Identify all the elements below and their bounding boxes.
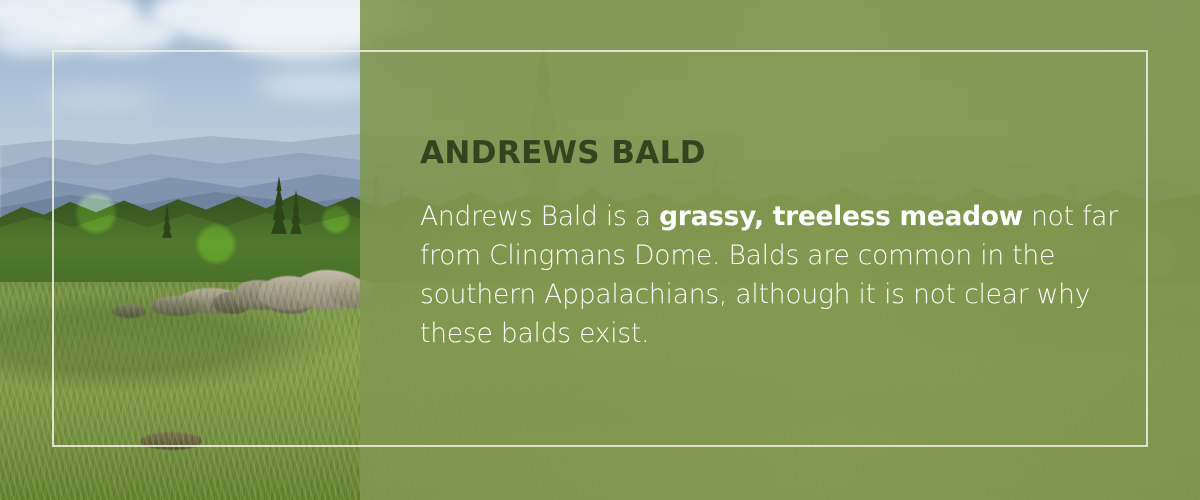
description-highlight: grassy, treeless meadow	[659, 201, 1023, 232]
page-title: ANDREWS BALD	[420, 138, 1120, 169]
andrews-bald-banner: ANDREWS BALD Andrews Bald is a grassy, t…	[0, 0, 1200, 500]
description-paragraph: Andrews Bald is a grassy, treeless meado…	[420, 197, 1120, 353]
cloud	[228, 18, 378, 60]
cloud	[40, 88, 160, 110]
text-content: ANDREWS BALD Andrews Bald is a grassy, t…	[420, 138, 1120, 353]
description-lead: Andrews Bald is a	[420, 201, 659, 232]
